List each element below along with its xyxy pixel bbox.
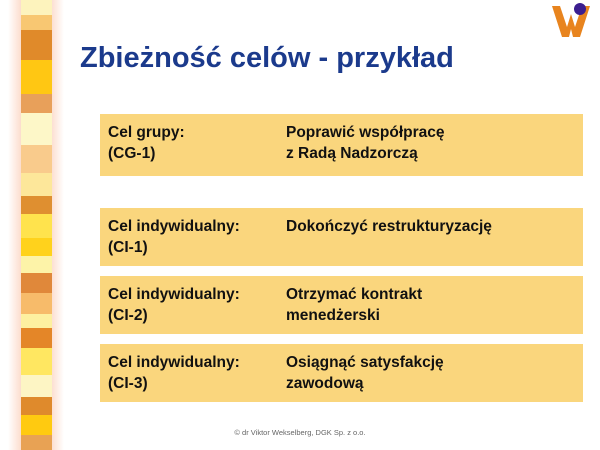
stripe-block bbox=[21, 397, 52, 414]
slide-canvas: Zbieżność celów - przykład Cel grupy: (C… bbox=[0, 0, 600, 450]
goal-text: Osiągnąć satysfakcję zawodową bbox=[286, 352, 583, 394]
stripe-block bbox=[21, 256, 52, 272]
stripe-block bbox=[21, 15, 52, 30]
stripe-block bbox=[21, 0, 52, 15]
stripe-block bbox=[21, 348, 52, 375]
stripe-block bbox=[21, 314, 52, 327]
stripe-block bbox=[21, 273, 52, 293]
goal-row-ci-3: Cel indywidualny: (CI-3) Osiągnąć satysf… bbox=[100, 344, 583, 402]
goal-row-cg-1: Cel grupy: (CG-1) Poprawić współpracę z … bbox=[100, 114, 583, 176]
stripe-block bbox=[21, 145, 52, 173]
stripe-block bbox=[21, 196, 52, 213]
stripe-block bbox=[21, 94, 52, 113]
page-title: Zbieżność celów - przykład bbox=[80, 42, 580, 75]
goal-text: Otrzymać kontrakt menedżerski bbox=[286, 284, 583, 326]
company-logo bbox=[548, 1, 594, 41]
goal-row-ci-1: Cel indywidualny: (CI-1) Dokończyć restr… bbox=[100, 208, 583, 266]
stripe-block bbox=[21, 214, 52, 238]
stripe-block bbox=[21, 238, 52, 257]
stripe-block bbox=[21, 173, 52, 196]
copyright-footer: © dr Viktor Wekselberg, DGK Sp. z o.o. bbox=[0, 428, 600, 437]
w-logo-icon bbox=[548, 1, 594, 41]
goal-row-ci-2: Cel indywidualny: (CI-2) Otrzymać kontra… bbox=[100, 276, 583, 334]
goal-text: Poprawić współpracę z Radą Nadzorczą bbox=[286, 122, 583, 164]
goal-label: Cel indywidualny: (CI-1) bbox=[108, 216, 286, 258]
stripe-block bbox=[21, 435, 52, 450]
goal-label: Cel grupy: (CG-1) bbox=[108, 122, 286, 164]
stripe-block bbox=[21, 30, 52, 60]
goal-text: Dokończyć restrukturyzację bbox=[286, 216, 583, 237]
stripe-block bbox=[21, 328, 52, 348]
decorative-stripe bbox=[21, 0, 52, 450]
goal-label: Cel indywidualny: (CI-3) bbox=[108, 352, 286, 394]
stripe-block bbox=[21, 375, 52, 398]
stripe-block bbox=[21, 293, 52, 314]
stripe-block bbox=[21, 113, 52, 145]
goal-label: Cel indywidualny: (CI-2) bbox=[108, 284, 286, 326]
stripe-block bbox=[21, 60, 52, 94]
